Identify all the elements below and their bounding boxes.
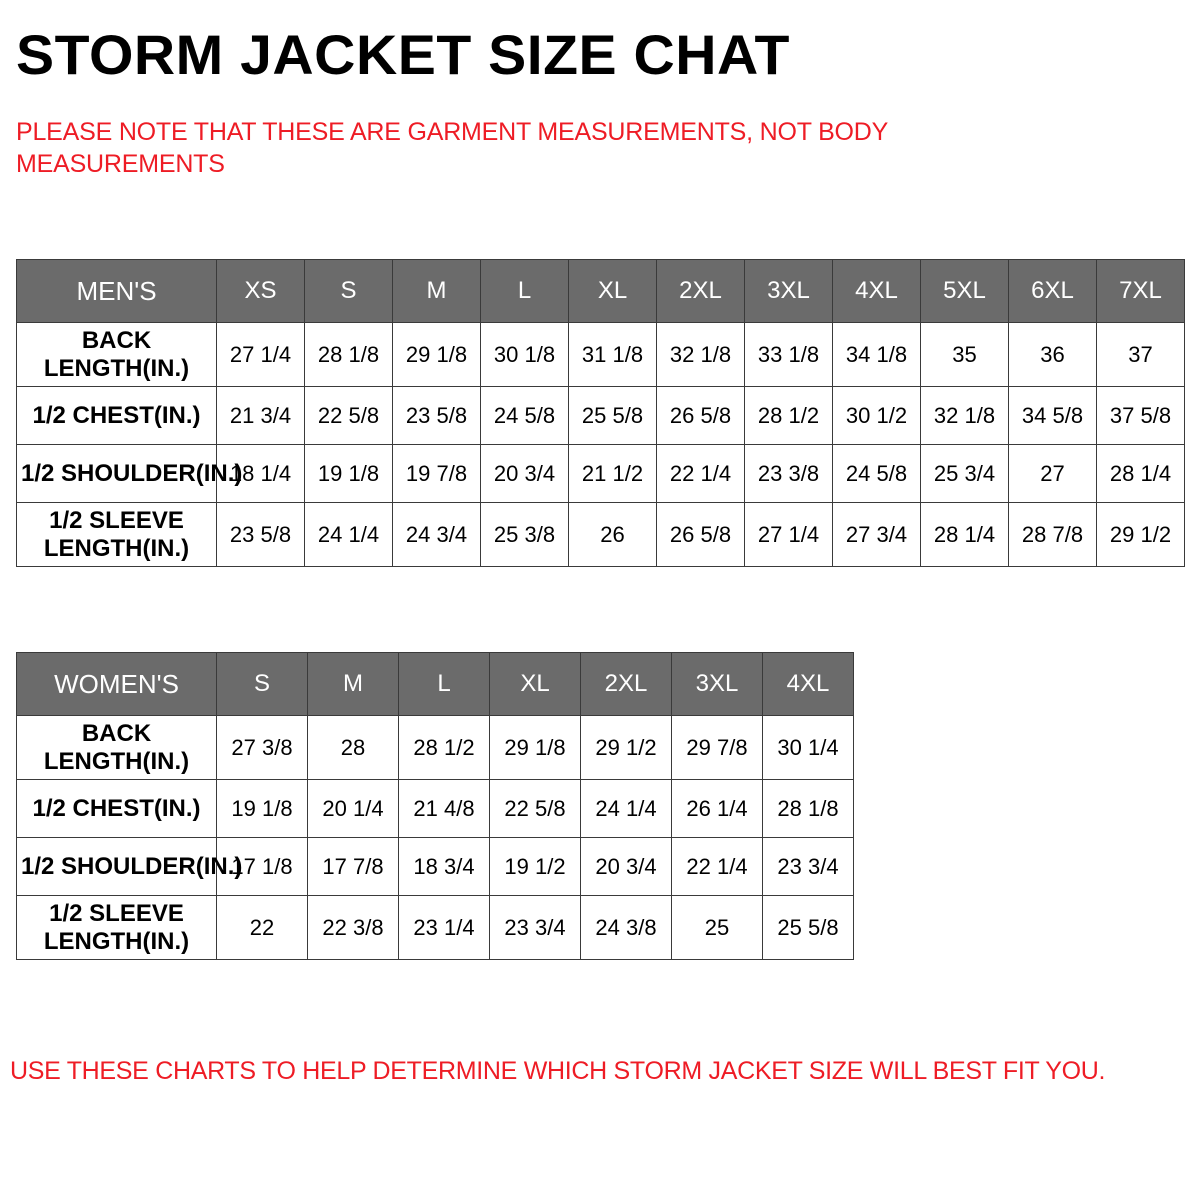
measurement-cell: 25 — [672, 896, 763, 960]
table-row: BACKLENGTH(IN.)27 3/82828 1/229 1/829 1/… — [17, 716, 854, 780]
measurement-cell: 20 3/4 — [581, 838, 672, 896]
measurement-cell: 33 1/8 — [745, 323, 833, 387]
mens-column-header-2xl: 2XL — [657, 260, 745, 323]
measurement-cell: 28 1/8 — [305, 323, 393, 387]
measurement-cell: 22 3/8 — [308, 896, 399, 960]
mens-size-table: MEN'SXSSMLXL2XL3XL4XL5XL6XL7XL BACKLENGT… — [16, 259, 1185, 567]
measurement-cell: 21 3/4 — [217, 387, 305, 445]
measurement-cell: 27 1/4 — [217, 323, 305, 387]
measurement-cell: 37 — [1097, 323, 1185, 387]
mens-table-header: MEN'SXSSMLXL2XL3XL4XL5XL6XL7XL — [17, 260, 1185, 323]
measurement-cell: 23 5/8 — [217, 503, 305, 567]
table-row: 1/2 SLEEVELENGTH(IN.)2222 3/823 1/423 3/… — [17, 896, 854, 960]
womens-column-header-m: M — [308, 653, 399, 716]
table-row: 1/2 SHOULDER(IN.)18 1/419 1/819 7/820 3/… — [17, 445, 1185, 503]
measurement-cell: 34 1/8 — [833, 323, 921, 387]
mens-column-header-6xl: 6XL — [1009, 260, 1097, 323]
measurement-cell: 30 1/8 — [481, 323, 569, 387]
measurement-cell: 26 — [569, 503, 657, 567]
measurement-cell: 24 5/8 — [481, 387, 569, 445]
womens-column-header-4xl: 4XL — [763, 653, 854, 716]
mens-row-label: 1/2 SHOULDER(IN.) — [17, 445, 217, 503]
measurement-cell: 36 — [1009, 323, 1097, 387]
measurement-cell: 28 1/2 — [399, 716, 490, 780]
mens-table-body: BACKLENGTH(IN.)27 1/428 1/829 1/830 1/83… — [17, 323, 1185, 567]
size-selection-note: USE THESE CHARTS TO HELP DETERMINE WHICH… — [10, 1056, 1170, 1086]
measurement-cell: 17 7/8 — [308, 838, 399, 896]
measurement-cell: 24 3/8 — [581, 896, 672, 960]
measurement-cell: 18 3/4 — [399, 838, 490, 896]
mens-column-header-5xl: 5XL — [921, 260, 1009, 323]
mens-column-header-m: M — [393, 260, 481, 323]
measurement-cell: 31 1/8 — [569, 323, 657, 387]
womens-column-header-l: L — [399, 653, 490, 716]
measurement-cell: 19 1/8 — [217, 780, 308, 838]
measurement-cell: 25 3/4 — [921, 445, 1009, 503]
table-row: 1/2 SHOULDER(IN.)17 1/817 7/818 3/419 1/… — [17, 838, 854, 896]
measurement-cell: 27 3/8 — [217, 716, 308, 780]
womens-column-header-xl: XL — [490, 653, 581, 716]
womens-table-header: WOMEN'SSMLXL2XL3XL4XL — [17, 653, 854, 716]
measurement-cell: 28 1/2 — [745, 387, 833, 445]
measurement-cell: 28 1/8 — [763, 780, 854, 838]
measurement-cell: 23 1/4 — [399, 896, 490, 960]
measurement-cell: 35 — [921, 323, 1009, 387]
mens-row-label: BACKLENGTH(IN.) — [17, 323, 217, 387]
measurement-cell: 26 5/8 — [657, 503, 745, 567]
womens-size-table: WOMEN'SSMLXL2XL3XL4XL BACKLENGTH(IN.)27 … — [16, 652, 854, 960]
measurement-cell: 21 1/2 — [569, 445, 657, 503]
measurement-cell: 20 3/4 — [481, 445, 569, 503]
measurement-cell: 28 1/4 — [921, 503, 1009, 567]
measurement-cell: 24 1/4 — [581, 780, 672, 838]
mens-column-header-xl: XL — [569, 260, 657, 323]
womens-column-header-2xl: 2XL — [581, 653, 672, 716]
measurement-cell: 29 1/8 — [393, 323, 481, 387]
measurement-cell: 22 1/4 — [672, 838, 763, 896]
measurement-cell: 25 3/8 — [481, 503, 569, 567]
mens-column-header-3xl: 3XL — [745, 260, 833, 323]
womens-row-label: 1/2 CHEST(IN.) — [17, 780, 217, 838]
measurement-cell: 29 1/2 — [581, 716, 672, 780]
measurement-cell: 30 1/2 — [833, 387, 921, 445]
womens-table-body: BACKLENGTH(IN.)27 3/82828 1/229 1/829 1/… — [17, 716, 854, 960]
measurement-cell: 22 5/8 — [490, 780, 581, 838]
table-row: 1/2 CHEST(IN.)19 1/820 1/421 4/822 5/824… — [17, 780, 854, 838]
table-row: 1/2 CHEST(IN.)21 3/422 5/823 5/824 5/825… — [17, 387, 1185, 445]
measurement-cell: 22 1/4 — [657, 445, 745, 503]
measurement-cell: 23 5/8 — [393, 387, 481, 445]
measurement-cell: 23 3/8 — [745, 445, 833, 503]
measurement-cell: 22 5/8 — [305, 387, 393, 445]
measurement-cell: 24 1/4 — [305, 503, 393, 567]
size-chart-page: STORM JACKET SIZE CHAT PLEASE NOTE THAT … — [0, 0, 1200, 1200]
mens-header-row: MEN'SXSSMLXL2XL3XL4XL5XL6XL7XL — [17, 260, 1185, 323]
mens-row-label: 1/2 CHEST(IN.) — [17, 387, 217, 445]
measurement-cell: 27 1/4 — [745, 503, 833, 567]
measurement-cell: 19 1/2 — [490, 838, 581, 896]
mens-row-label: 1/2 SLEEVELENGTH(IN.) — [17, 503, 217, 567]
page-title: STORM JACKET SIZE CHAT — [16, 24, 790, 86]
womens-row-label: 1/2 SLEEVELENGTH(IN.) — [17, 896, 217, 960]
measurement-cell: 24 3/4 — [393, 503, 481, 567]
measurement-cell: 28 — [308, 716, 399, 780]
measurement-cell: 29 1/2 — [1097, 503, 1185, 567]
measurement-cell: 18 1/4 — [217, 445, 305, 503]
table-row: BACKLENGTH(IN.)27 1/428 1/829 1/830 1/83… — [17, 323, 1185, 387]
measurement-cell: 29 7/8 — [672, 716, 763, 780]
mens-column-header-l: L — [481, 260, 569, 323]
womens-column-header-s: S — [217, 653, 308, 716]
measurement-cell: 28 7/8 — [1009, 503, 1097, 567]
womens-row-label: 1/2 SHOULDER(IN.) — [17, 838, 217, 896]
mens-column-header-4xl: 4XL — [833, 260, 921, 323]
measurement-cell: 24 5/8 — [833, 445, 921, 503]
measurement-cell: 32 1/8 — [921, 387, 1009, 445]
measurement-cell: 27 — [1009, 445, 1097, 503]
measurement-cell: 19 7/8 — [393, 445, 481, 503]
mens-corner-label: MEN'S — [17, 260, 217, 323]
measurement-cell: 23 3/4 — [763, 838, 854, 896]
garment-measurement-note: PLEASE NOTE THAT THESE ARE GARMENT MEASU… — [16, 116, 1016, 180]
measurement-cell: 37 5/8 — [1097, 387, 1185, 445]
womens-column-header-3xl: 3XL — [672, 653, 763, 716]
measurement-cell: 21 4/8 — [399, 780, 490, 838]
womens-row-label: BACKLENGTH(IN.) — [17, 716, 217, 780]
measurement-cell: 19 1/8 — [305, 445, 393, 503]
measurement-cell: 28 1/4 — [1097, 445, 1185, 503]
mens-column-header-s: S — [305, 260, 393, 323]
measurement-cell: 29 1/8 — [490, 716, 581, 780]
table-row: 1/2 SLEEVELENGTH(IN.)23 5/824 1/424 3/42… — [17, 503, 1185, 567]
measurement-cell: 30 1/4 — [763, 716, 854, 780]
measurement-cell: 32 1/8 — [657, 323, 745, 387]
womens-corner-label: WOMEN'S — [17, 653, 217, 716]
measurement-cell: 25 5/8 — [763, 896, 854, 960]
measurement-cell: 20 1/4 — [308, 780, 399, 838]
measurement-cell: 25 5/8 — [569, 387, 657, 445]
mens-column-header-7xl: 7XL — [1097, 260, 1185, 323]
mens-column-header-xs: XS — [217, 260, 305, 323]
womens-header-row: WOMEN'SSMLXL2XL3XL4XL — [17, 653, 854, 716]
measurement-cell: 23 3/4 — [490, 896, 581, 960]
measurement-cell: 34 5/8 — [1009, 387, 1097, 445]
measurement-cell: 22 — [217, 896, 308, 960]
measurement-cell: 27 3/4 — [833, 503, 921, 567]
measurement-cell: 26 5/8 — [657, 387, 745, 445]
measurement-cell: 26 1/4 — [672, 780, 763, 838]
